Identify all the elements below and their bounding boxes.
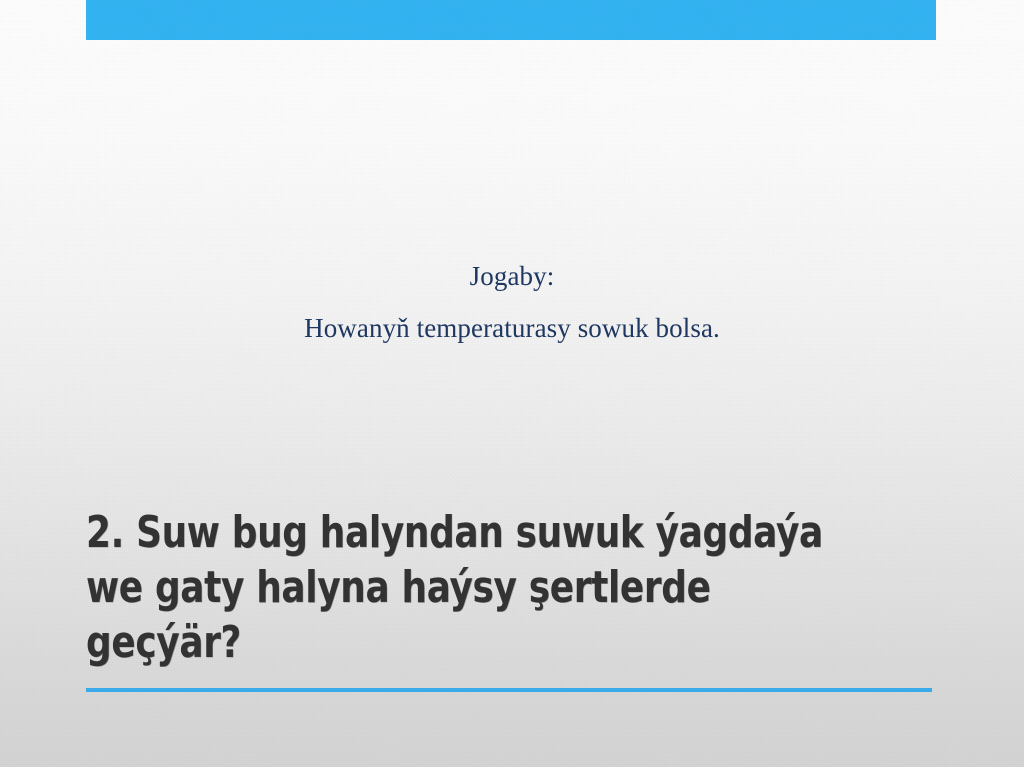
heading-line-3: geçýär? — [86, 615, 956, 670]
answer-label: Jogaby: — [0, 250, 1024, 302]
heading-line-2: we gaty halyna haýsy şertlerde — [86, 560, 956, 615]
heading-underline-rule — [86, 688, 932, 692]
answer-text-block: Jogaby: Howanyň temperaturasy sowuk bols… — [0, 250, 1024, 354]
heading-line-1: 2. Suw bug halyndan suwuk ýagdaýa — [86, 505, 956, 560]
slide-canvas: Jogaby: Howanyň temperaturasy sowuk bols… — [0, 0, 1024, 767]
slide-question-heading: 2. Suw bug halyndan suwuk ýagdaýa we gat… — [86, 505, 956, 670]
answer-sentence: Howanyň temperaturasy sowuk bolsa. — [0, 302, 1024, 354]
top-accent-bar — [86, 0, 936, 40]
